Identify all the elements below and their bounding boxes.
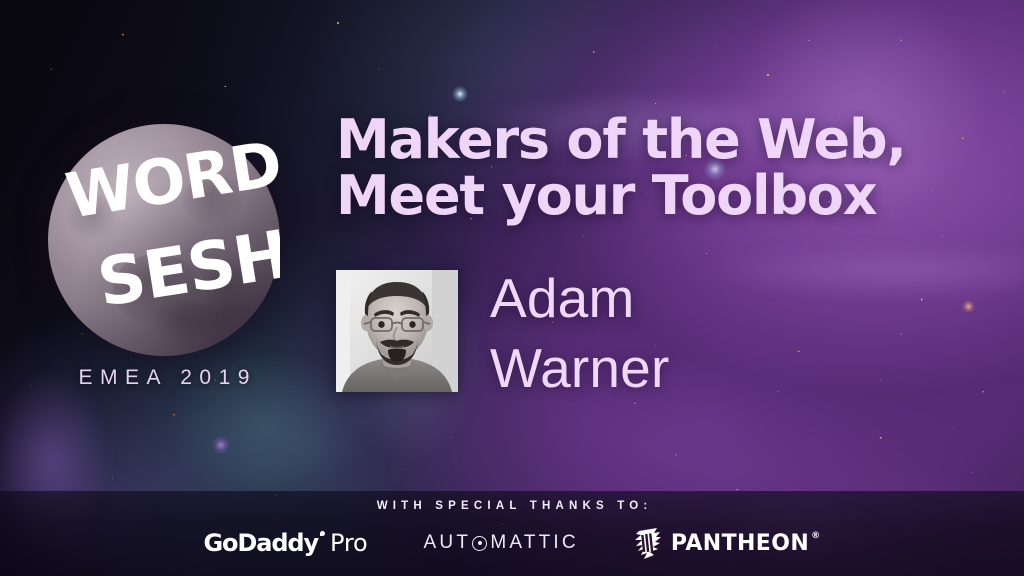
speaker-block: Adam Warner	[336, 270, 669, 404]
automattic-logo[interactable]: AUT MATTIC	[424, 532, 579, 554]
session-title-line-1: Makers of the Web,	[336, 112, 996, 168]
session-title-slide: WORD SESH EMEA 2019 Makers of the Web, M…	[0, 0, 1024, 576]
pantheon-mark-icon	[635, 528, 662, 559]
godaddy-logo[interactable]: GoDaddy Pro	[203, 529, 367, 557]
automattic-wordmark-post: MATTIC	[490, 532, 579, 554]
automattic-wordmark-pre: AUT	[424, 532, 472, 554]
moon-shading	[48, 124, 280, 356]
thanks-label: WITH SPECIAL THANKS TO:	[0, 500, 1024, 512]
speaker-photo	[336, 270, 458, 392]
sponsor-row: GoDaddy Pro AUT MATTIC PANTHEON ®	[0, 526, 1024, 560]
speaker-last-name: Warner	[490, 334, 669, 404]
session-title-line-2: Meet your Toolbox	[336, 168, 996, 224]
pantheon-wordmark: PANTHEON ®	[671, 531, 821, 556]
speaker-name: Adam Warner	[490, 264, 669, 404]
moon-planet-icon	[48, 124, 280, 356]
session-title: Makers of the Web, Meet your Toolbox	[336, 112, 996, 223]
pantheon-logo[interactable]: PANTHEON ®	[635, 528, 821, 559]
edition-label: EMEA 2019	[48, 366, 280, 390]
automattic-circle-dot-icon	[472, 536, 487, 551]
godaddy-pro-label: Pro	[330, 529, 367, 557]
speaker-first-name: Adam	[490, 264, 669, 334]
registered-trademark-icon: ®	[811, 532, 820, 541]
pantheon-wordmark-text: PANTHEON	[671, 531, 809, 556]
speaker-portrait-image	[336, 270, 458, 392]
godaddy-wordmark: GoDaddy	[203, 529, 318, 557]
